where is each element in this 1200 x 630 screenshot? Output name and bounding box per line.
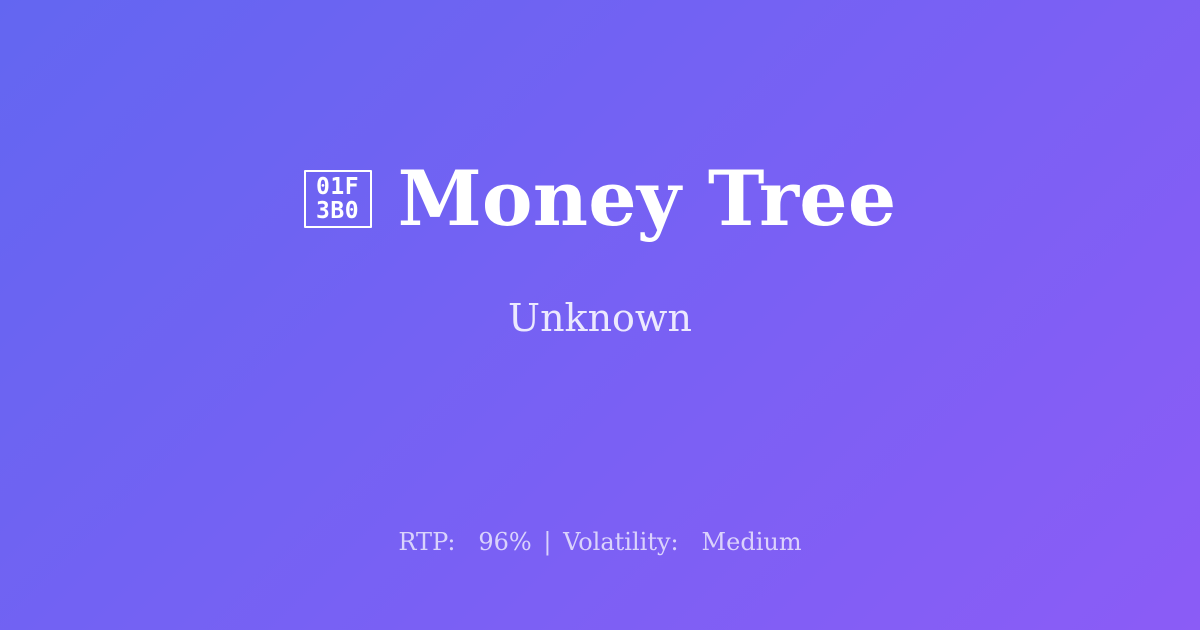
volatility-label: Volatility: — [563, 528, 679, 556]
title-row: 01F 3B0 Money Tree — [304, 159, 897, 238]
tofu-codepoint-row-bottom: 3B0 — [316, 199, 359, 223]
volatility-value: Medium — [702, 528, 802, 556]
game-provider-subtitle: Unknown — [508, 296, 692, 342]
tofu-codepoint-row-top: 01F — [316, 175, 359, 199]
slot-machine-emoji-icon: 01F 3B0 — [304, 170, 372, 228]
game-title: Money Tree — [398, 159, 897, 238]
game-meta-line: RTP: 96% | Volatility: Medium — [0, 528, 1200, 556]
rtp-label: RTP: — [398, 528, 455, 556]
game-og-card: 01F 3B0 Money Tree Unknown RTP: 96% | Vo… — [0, 0, 1200, 630]
meta-separator: | — [539, 528, 555, 556]
hero-block: 01F 3B0 Money Tree Unknown — [0, 0, 1200, 500]
rtp-value: 96% — [478, 528, 531, 556]
